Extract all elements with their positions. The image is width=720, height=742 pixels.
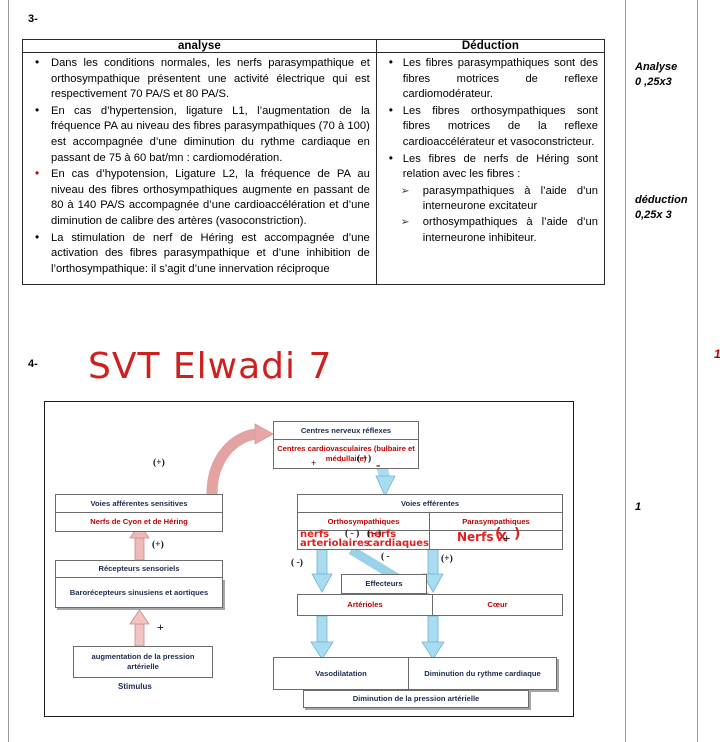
sign-cc-plus: + (311, 459, 316, 469)
sign-ortho-minus-2: ( - ) (367, 529, 381, 539)
box-arterioles: Artérioles (297, 594, 433, 616)
analyse-list: Dans les conditions normales, les nerfs … (27, 56, 370, 277)
arrow-afferent-to-centers (212, 424, 273, 494)
box-voies-efferentes: Voies efférentes (297, 494, 563, 513)
sign-nerfx-paren-close: ) (514, 530, 520, 539)
box-vasodilatation: Vasodilatation (273, 657, 409, 690)
label-stimulus: Stimulus (118, 682, 152, 691)
cardiovascular-reflex-diagram: Centres nerveux réflexes Centres cardiov… (44, 401, 574, 717)
page-border-right (697, 0, 698, 742)
list-item: Les fibres parasympathiques sont des fib… (381, 56, 598, 103)
deduction-cell: Les fibres parasympathiques sont des fib… (376, 53, 604, 285)
margin-note-analyse: Analyse 0 ,25x3 (635, 60, 677, 90)
list-item: Les fibres orthosympathiques sont fibres… (381, 104, 598, 151)
analysis-deduction-table: analyse Déduction Dans les conditions no… (22, 39, 605, 285)
sign-cc-minus: - (376, 457, 380, 473)
arrow-stimulus-to-receptors (130, 610, 149, 646)
list-item: parasympathiques à l’aide d’un interneur… (381, 184, 598, 215)
column-header-analyse: analyse (23, 40, 377, 53)
sign-nerfx-plus: + (503, 531, 510, 547)
list-item: Les fibres de nerfs de Héring sont relat… (381, 152, 598, 183)
box-diminution-rythme: Diminution du rythme cardiaque (409, 657, 557, 690)
box-recepteurs-sensoriels: Récepteurs sensoriels (55, 560, 223, 578)
list-item: orthosympathiques à l’aide d’un interneu… (381, 215, 598, 246)
question-3-number: 3- (28, 13, 38, 25)
sign-afferent-curve-plus: (+) (153, 458, 165, 468)
sign-baro-plus: + (157, 620, 164, 635)
box-nerfs-cyon-hering: Nerfs de Cyon et de Héring (55, 513, 223, 532)
page-border-middle (625, 0, 626, 742)
box-diminution-pression: Diminution de la pression artérielle (303, 690, 529, 708)
list-item: En cas d’hypotension, Ligature L2, la fr… (27, 167, 370, 229)
sign-afferent-plus: (+) (152, 540, 164, 550)
page-border-left (8, 0, 9, 742)
box-augmentation-pression: augmentation de la pression artérielle (73, 646, 213, 678)
box-centres-cardiovasculaires: Centres cardiovasculaires (bulbaire et m… (273, 440, 419, 469)
box-voies-afferentes: Voies afférentes sensitives (55, 494, 223, 513)
column-header-deduction: Déduction (376, 40, 604, 53)
sign-ortho-minus-1: ( - ) (345, 529, 359, 539)
table-body-row: Dans les conditions normales, les nerfs … (23, 53, 605, 285)
sign-coeur-plus: (+) (441, 554, 453, 564)
box-coeur: Cœur (433, 594, 563, 616)
box-barorecepteurs: Barorécepteurs sinusiens et aortiques (55, 578, 223, 608)
box-centres-nerveux: Centres nerveux réflexes (273, 421, 419, 440)
margin-note-red-edge: 1 (714, 347, 720, 362)
sign-efferent-plus: ( +) (357, 454, 371, 464)
list-item: La stimulation de nerf de Héring est acc… (27, 231, 370, 278)
deduction-list: Les fibres parasympathiques sont des fib… (381, 56, 598, 183)
sign-arteriole-minus-value: ( -) (291, 558, 303, 568)
box-effecteurs: Effecteurs (341, 574, 427, 594)
arrow-arterioles-to-vasodilatation (311, 616, 333, 659)
list-item: Dans les conditions normales, les nerfs … (27, 56, 370, 103)
deduction-sublist: parasympathiques à l’aide d’un interneur… (381, 184, 598, 246)
table-header-row: analyse Déduction (23, 40, 605, 53)
arrow-ortho-to-arterioles (312, 546, 332, 592)
arrow-coeur-to-diminution (422, 616, 444, 659)
page-title: SVT Elwadi 7 (88, 346, 332, 387)
margin-note-deduction: déduction 0,25x 3 (635, 193, 688, 223)
question-4-number: 4- (28, 358, 38, 370)
list-item: En cas d’hypertension, ligature L1, l’au… (27, 104, 370, 166)
sign-nerfx-paren-open: ( (495, 530, 501, 539)
analyse-cell: Dans les conditions normales, les nerfs … (23, 53, 377, 285)
sign-diagonal-minus: ( - (381, 552, 390, 562)
margin-note-one: 1 (635, 500, 641, 515)
